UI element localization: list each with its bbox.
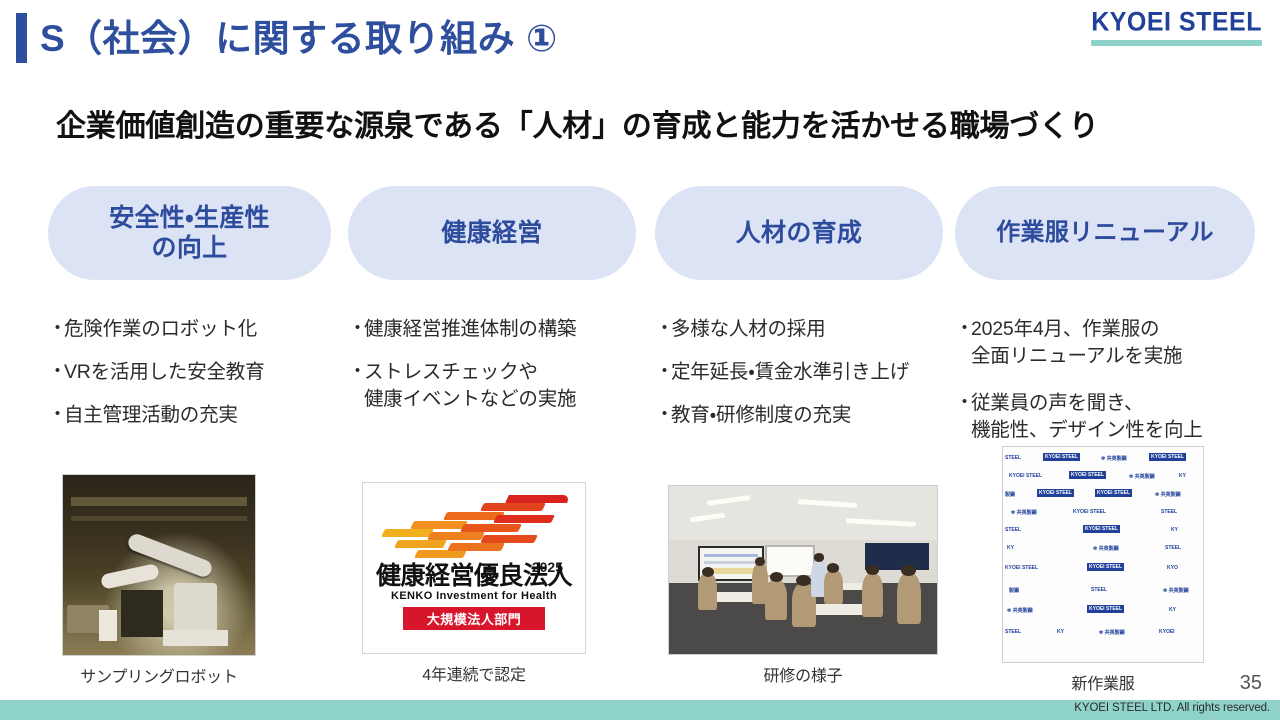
bullet-dot-icon: ・ [48, 359, 64, 386]
kenko-certification-logo: 2025 健康経営優良法人 KENKO Investment for Healt… [362, 482, 586, 654]
page-title: S（社会）に関する取り組み ① [40, 14, 558, 64]
person-shape [897, 573, 921, 623]
column-safety-productivity: 安全性・生産性 の向上 ・ 危険作業のロボット化 ・ VRを活用した安全教育 ・… [48, 186, 333, 445]
kenko-wing-icon [371, 491, 577, 565]
person-shape [862, 573, 883, 617]
robot-base-shape [163, 630, 228, 646]
list-item: ・ 危険作業のロボット化 [48, 316, 333, 343]
bullet-list: ・ 2025年4月、作業服の 全面リニューアルを実施 ・ 従業員の声を聞き、 機… [955, 316, 1255, 444]
bullet-dot-icon: ・ [348, 359, 364, 413]
copyright-text: KYOEI STEEL LTD. All rights reserved. [1074, 702, 1270, 714]
list-item: ・ 教育・研修制度の充実 [655, 402, 945, 429]
figure-new-uniform: STEEL KYOEI STEEL ✻ 共英製鋼 KYOEI STEEL KYO… [1002, 446, 1204, 694]
sampling-robot-photo [62, 474, 256, 656]
bullet-dot-icon: ・ [48, 402, 64, 429]
figure-caption: 研修の様子 [668, 662, 938, 686]
bullet-list: ・ 危険作業のロボット化 ・ VRを活用した安全教育 ・ 自主管理活動の充実 [48, 316, 333, 429]
logo-wordmark: KYOEI STEEL [1091, 7, 1262, 38]
new-uniform-photo: STEEL KYOEI STEEL ✻ 共英製鋼 KYOEI STEEL KYO… [1002, 446, 1204, 663]
bullet-dot-icon: ・ [955, 390, 971, 444]
subtitle: 企業価値創造の重要な源泉である「人材」の育成と能力を活かせる職場づくり [56, 101, 1099, 145]
backdrop-wall: STEEL KYOEI STEEL ✻ 共英製鋼 KYOEI STEEL KYO… [1003, 447, 1203, 662]
photo-shape [71, 516, 248, 521]
logo-underline [1091, 40, 1262, 46]
list-item: ・ 多様な人材の採用 [655, 316, 945, 343]
column-pill-header: 安全性・生産性 の向上 [48, 186, 331, 280]
bullet-text: 教育・研修制度の充実 [671, 402, 945, 429]
list-item: ・ 2025年4月、作業服の 全面リニューアルを実施 [955, 316, 1255, 370]
person-shape [755, 557, 766, 566]
person-shape [814, 553, 825, 561]
title-accent-bar [16, 13, 27, 63]
person-shape [827, 563, 839, 572]
kenko-title-jp: 健康経営優良法人 [363, 563, 585, 589]
robot-arm-shape [100, 563, 159, 590]
bullet-dot-icon: ・ [348, 316, 364, 343]
list-item: ・ 自主管理活動の充実 [48, 402, 333, 429]
bullet-dot-icon: ・ [955, 316, 971, 370]
list-item: ・ VRを活用した安全教育 [48, 359, 333, 386]
kyoei-steel-logo: KYOEI STEEL [1091, 8, 1262, 46]
list-item: ・ 定年延長・賃金水準引き上げ [655, 359, 945, 386]
bullet-dot-icon: ・ [655, 359, 671, 386]
column-uniform-renewal: 作業服リニューアル ・ 2025年4月、作業服の 全面リニューアルを実施 ・ 従… [955, 186, 1255, 464]
bullet-text: VRを活用した安全教育 [64, 359, 333, 386]
figure-training-session: 研修の様子 [668, 485, 938, 686]
bullet-list: ・ 多様な人材の採用 ・ 定年延長・賃金水準引き上げ ・ 教育・研修制度の充実 [655, 316, 945, 429]
bullet-list: ・ 健康経営推進体制の構築 ・ ストレスチェックや 健康イベントなどの実施 [348, 316, 638, 413]
bullet-text: 健康経営推進体制の構築 [364, 316, 638, 343]
person-shape [824, 570, 843, 604]
bullet-text: ストレスチェックや 健康イベントなどの実施 [364, 359, 638, 413]
list-item: ・ 健康経営推進体制の構築 [348, 316, 638, 343]
list-item: ・ ストレスチェックや 健康イベントなどの実施 [348, 359, 638, 413]
bullet-text: 多様な人材の採用 [671, 316, 945, 343]
photo-shape [71, 497, 248, 506]
figure-caption: サンプリングロボット [62, 663, 256, 687]
kenko-category-band: 大規模法人部門 [403, 607, 545, 630]
column-human-resource-development: 人材の育成 ・ 多様な人材の採用 ・ 定年延長・賃金水準引き上げ ・ 教育・研修… [655, 186, 945, 445]
person-shape [765, 580, 786, 620]
kenko-labels: 健康経営優良法人 KENKO Investment for Health 大規模… [363, 563, 585, 630]
person-shape [796, 575, 811, 586]
bullet-text: 従業員の声を聞き、 機能性、デザイン性を向上 [971, 390, 1255, 444]
bullet-dot-icon: ・ [655, 402, 671, 429]
photo-shape [704, 554, 758, 557]
bullet-text: 自主管理活動の充実 [64, 402, 333, 429]
photo-shape [99, 610, 116, 641]
figure-caption: 4年連続で認定 [362, 661, 586, 685]
figure-caption: 新作業服 [1002, 670, 1204, 694]
bullet-text: 定年延長・賃金水準引き上げ [671, 359, 945, 386]
bullet-text: 2025年4月、作業服の 全面リニューアルを実施 [971, 316, 1255, 370]
page-number: 35 [1240, 672, 1262, 695]
training-session-photo [668, 485, 938, 655]
column-pill-header: 人材の育成 [655, 186, 943, 280]
kenko-title-en: KENKO Investment for Health [363, 590, 585, 602]
bullet-dot-icon: ・ [48, 316, 64, 343]
bullet-text: 危険作業のロボット化 [64, 316, 333, 343]
photo-shape [121, 590, 163, 637]
figure-kenko-certification: 2025 健康経営優良法人 KENKO Investment for Healt… [362, 482, 586, 685]
column-pill-header: 健康経営 [348, 186, 636, 280]
list-item: ・ 従業員の声を聞き、 機能性、デザイン性を向上 [955, 390, 1255, 444]
person-shape [901, 565, 916, 576]
slide: S（社会）に関する取り組み ① KYOEI STEEL 企業価値創造の重要な源泉… [0, 0, 1280, 720]
bullet-dot-icon: ・ [655, 316, 671, 343]
photo-shape [669, 486, 937, 540]
person-shape [770, 572, 783, 582]
column-health-management: 健康経営 ・ 健康経営推進体制の構築 ・ ストレスチェックや 健康イベントなどの… [348, 186, 638, 429]
column-pill-header: 作業服リニューアル [955, 186, 1255, 280]
person-shape [698, 573, 717, 610]
person-shape [702, 567, 714, 577]
photo-shape [704, 561, 758, 564]
figure-sampling-robot: サンプリングロボット [62, 474, 256, 687]
robot-base-shape [174, 583, 216, 633]
